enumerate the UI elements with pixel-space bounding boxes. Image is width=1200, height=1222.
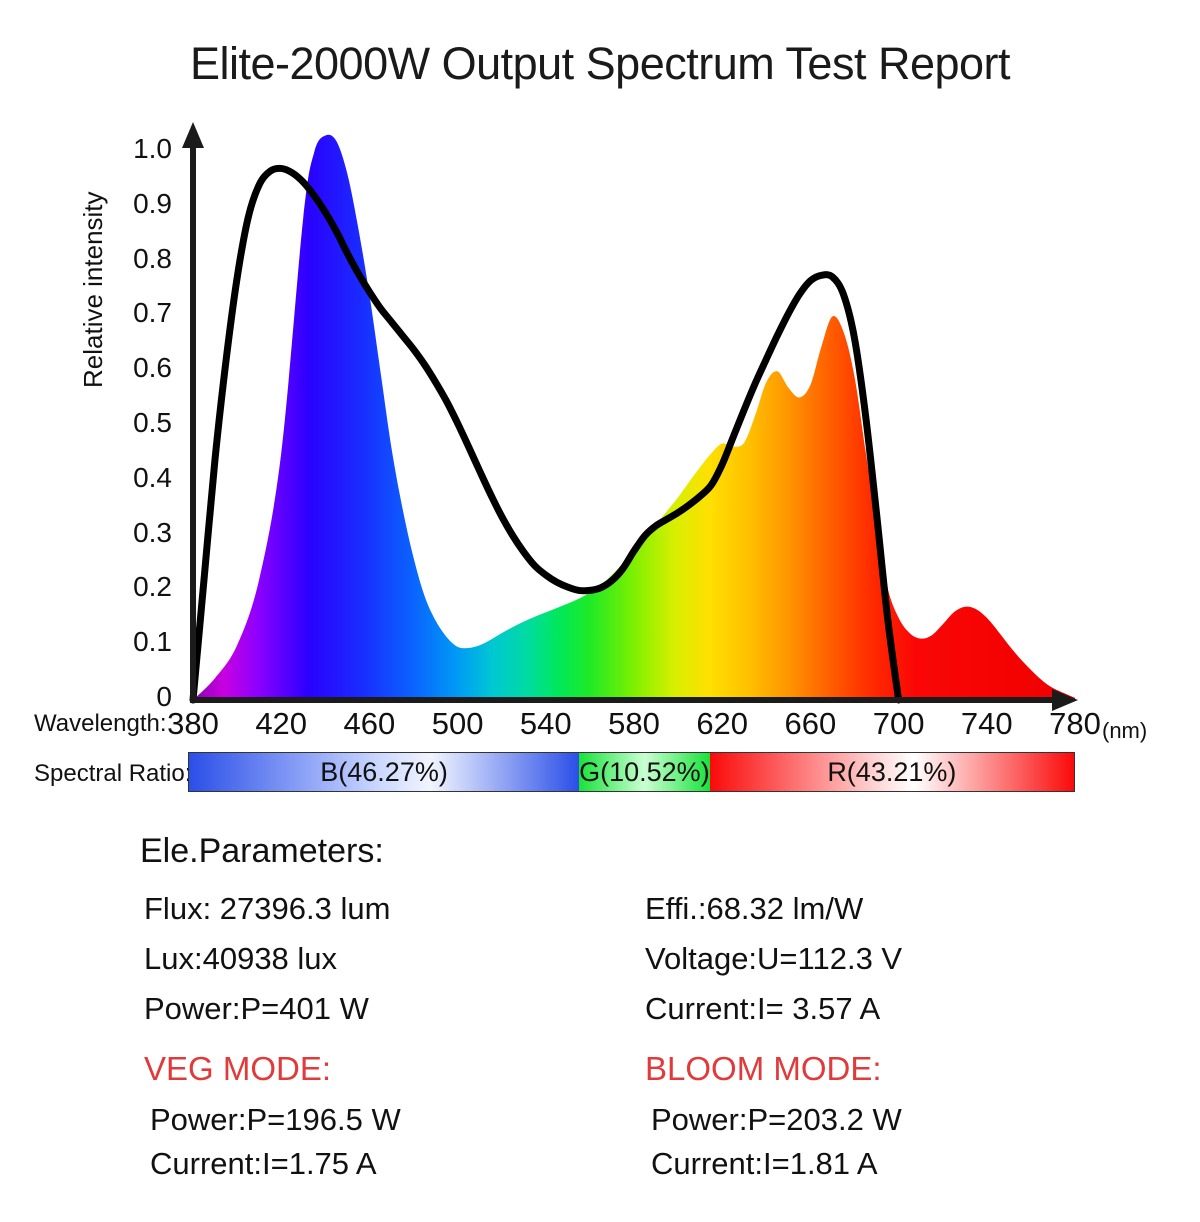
bloom-mode-current: Current:I=1.81 A: [645, 1142, 1125, 1186]
spectrum-chart: Relative intensity 1.00.90.80.70.60.50.4…: [0, 108, 1200, 728]
y-tick-0.9: 0.9: [102, 188, 172, 220]
green-band-label: G(10.52%): [579, 757, 710, 788]
param-efficacy: Effi.:68.32 lm/W: [645, 884, 1125, 934]
y-tick-0.2: 0.2: [102, 571, 172, 603]
y-tick-0.4: 0.4: [102, 462, 172, 494]
y-tick-0.5: 0.5: [102, 407, 172, 439]
spectrum-plot-svg: [0, 108, 1200, 728]
spectrum-test-report: Elite-2000W Output Spectrum Test Report …: [0, 0, 1200, 1220]
green-band: G(10.52%): [579, 753, 710, 791]
param-power: Power:P=401 W: [144, 984, 614, 1034]
y-tick-0.1: 0.1: [102, 626, 172, 658]
parameters-section: Ele.Parameters: Flux: 27396.3 lum Lux:40…: [0, 832, 1200, 1222]
x-axis-row: Wavelength: 3804204605005405806206607007…: [0, 704, 1200, 744]
parameters-right-column: Effi.:68.32 lm/W Voltage:U=112.3 V Curre…: [645, 884, 1125, 1186]
blue-band-label: B(46.27%): [320, 757, 448, 788]
param-voltage: Voltage:U=112.3 V: [645, 934, 1125, 984]
y-tick-0.8: 0.8: [102, 243, 172, 275]
blue-band: B(46.27%): [189, 753, 579, 791]
param-current: Current:I= 3.57 A: [645, 984, 1125, 1034]
bloom-mode-title: BLOOM MODE:: [645, 1040, 1125, 1098]
param-lux: Lux:40938 lux: [144, 934, 614, 984]
y-tick-0.3: 0.3: [102, 517, 172, 549]
page-title: Elite-2000W Output Spectrum Test Report: [0, 38, 1200, 90]
x-axis-unit: (nm): [1102, 718, 1147, 744]
y-tick-1.0: 1.0: [102, 133, 172, 165]
red-band-label: R(43.21%): [827, 757, 956, 788]
veg-mode-power: Power:P=196.5 W: [144, 1098, 614, 1142]
spectral-ratio-bar: B(46.27%)G(10.52%)R(43.21%): [188, 752, 1075, 792]
spectral-ratio-caption: Spectral Ratio:: [34, 760, 191, 788]
veg-mode-current: Current:I=1.75 A: [144, 1142, 614, 1186]
y-tick-0.6: 0.6: [102, 352, 172, 384]
red-band: R(43.21%): [710, 753, 1074, 791]
spectrum-area: [193, 135, 1075, 700]
y-tick-0.7: 0.7: [102, 297, 172, 329]
param-flux: Flux: 27396.3 lum: [144, 884, 614, 934]
parameters-left-column: Flux: 27396.3 lum Lux:40938 lux Power:P=…: [144, 884, 614, 1186]
veg-mode-title: VEG MODE:: [144, 1040, 614, 1098]
bloom-mode-power: Power:P=203.2 W: [645, 1098, 1125, 1142]
parameters-heading: Ele.Parameters:: [140, 832, 384, 871]
